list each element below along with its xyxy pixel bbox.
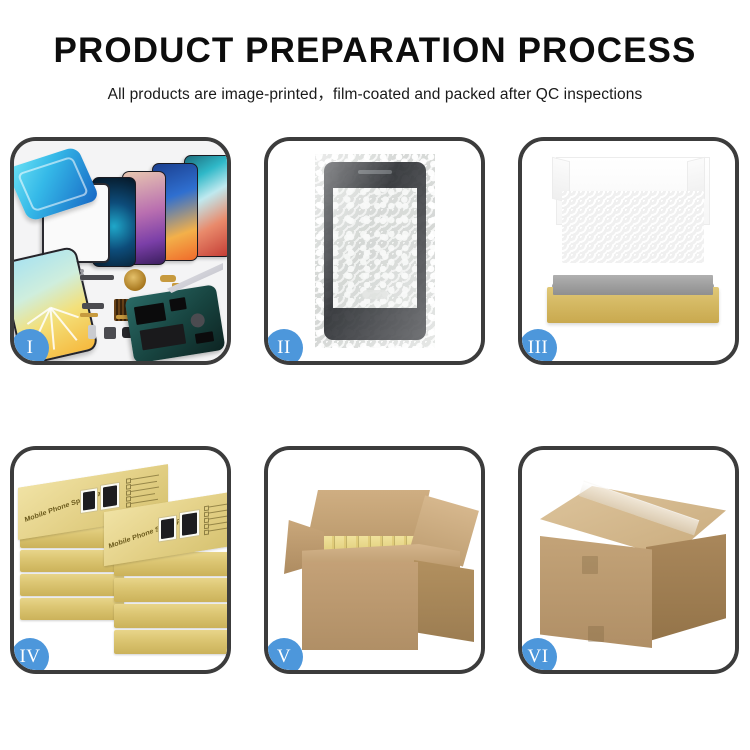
box-inner-edge <box>553 275 713 295</box>
process-step-panel-1: I <box>10 137 231 365</box>
foam-padding <box>562 191 704 263</box>
sealed-shipping-carton <box>540 478 726 648</box>
retail-box-stack: Mobile Phone Spare Parts Mobile Phone Sp… <box>18 468 227 658</box>
carton-right-face <box>646 534 726 642</box>
process-step-panel-4: Mobile Phone Spare Parts Mobile Phone Sp… <box>10 446 231 674</box>
process-step-panel-6: VI <box>518 446 739 674</box>
step-6-image: VI <box>522 450 735 670</box>
process-steps-grid: I II III <box>10 137 740 674</box>
carton-side-panel <box>414 560 474 642</box>
process-step-panel-5: V <box>264 446 485 674</box>
bubble-wrap-sheet <box>315 154 435 348</box>
carton-front-panel <box>302 562 418 650</box>
page-title: PRODUCT PREPARATION PROCESS <box>0 32 750 71</box>
page-header: PRODUCT PREPARATION PROCESS All products… <box>0 0 750 104</box>
page-subtitle: All products are image-printed，film-coat… <box>0 82 750 104</box>
phone-logic-board <box>124 284 225 361</box>
step-badge-2: II <box>268 329 303 361</box>
step-2-image: II <box>268 141 481 361</box>
process-step-panel-2: II <box>264 137 485 365</box>
step-badge-3: III <box>522 329 557 361</box>
step-1-image: I <box>14 141 227 361</box>
yellow-kraft-box <box>547 287 719 323</box>
step-3-image: III <box>522 141 735 361</box>
open-shipping-carton <box>284 480 474 650</box>
process-step-panel-3: III <box>518 137 739 365</box>
step-5-image: V <box>268 450 481 670</box>
step-4-image: Mobile Phone Spare Parts Mobile Phone Sp… <box>14 450 227 670</box>
film-sheen <box>315 154 435 348</box>
